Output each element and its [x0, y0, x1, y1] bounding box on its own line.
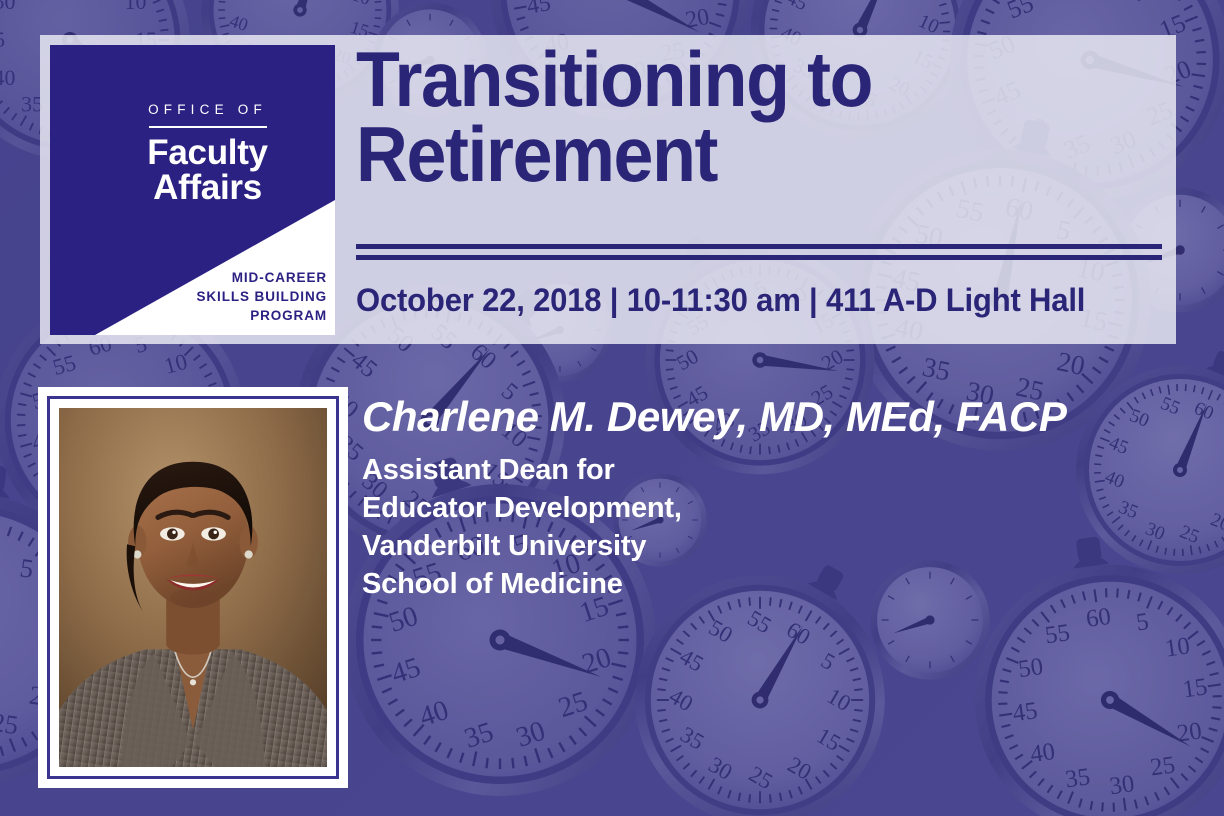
logo-faculty-text: Faculty — [80, 135, 335, 171]
speaker-title-block: Assistant Dean for Educator Development,… — [362, 452, 682, 604]
speaker-name: Charlene M. Dewey, MD, MEd, FACP — [362, 393, 1066, 441]
speaker-title-line-3: Vanderbilt University — [362, 528, 682, 566]
office-of-faculty-affairs-logo: OFFICE OF Faculty Affairs MID-CAREER SKI… — [50, 45, 335, 335]
program-line-mid-career: MID-CAREER — [197, 268, 328, 287]
event-title-block: Transitioning to Retirement — [356, 42, 1166, 192]
program-line-skills-building: SKILLS BUILDING — [197, 287, 328, 306]
logo-divider-rule — [149, 126, 267, 128]
logo-affairs-text: Affairs — [80, 170, 335, 206]
event-flyer: 60 5 10 15 20 25 30 35 40 45 50 55 — [0, 0, 1224, 816]
logo-wordmark: OFFICE OF Faculty Affairs — [50, 103, 335, 206]
event-details-line: October 22, 2018 | 10-11:30 am | 411 A-D… — [356, 282, 1085, 319]
program-line-program: PROGRAM — [197, 306, 328, 325]
logo-office-of-text: OFFICE OF — [80, 103, 335, 117]
divider-rule-bottom — [356, 255, 1162, 260]
speaker-title-line-4: School of Medicine — [362, 566, 682, 604]
event-title-line-1: Transitioning to — [356, 42, 1101, 117]
speaker-portrait-photo — [59, 408, 327, 767]
speaker-title-line-2: Educator Development, — [362, 490, 682, 528]
speaker-title-line-1: Assistant Dean for — [362, 452, 682, 490]
speaker-photo-frame — [38, 387, 348, 788]
speaker-photo-liner — [47, 396, 339, 779]
event-title-line-2: Retirement — [356, 117, 1101, 192]
title-divider-rules — [356, 244, 1162, 260]
program-name-block: MID-CAREER SKILLS BUILDING PROGRAM — [197, 268, 328, 325]
